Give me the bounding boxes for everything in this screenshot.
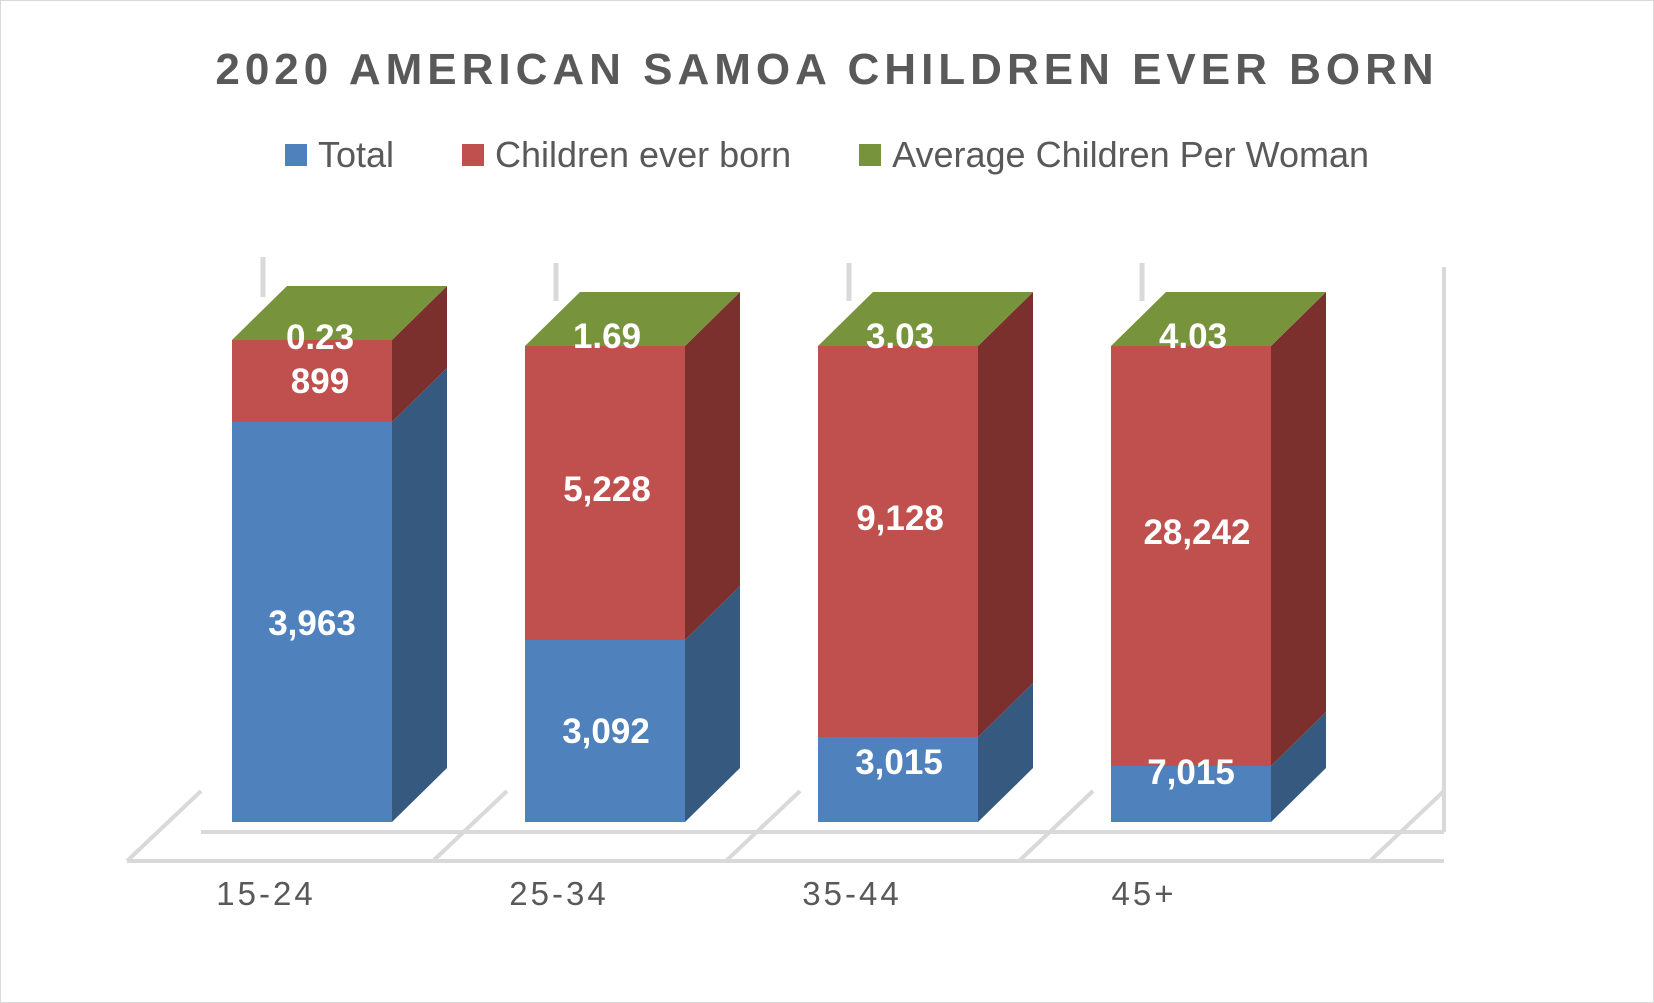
- bar-segment-total-1[interactable]: [232, 422, 392, 822]
- bar-group-25-34[interactable]: [525, 292, 740, 822]
- bar-segment-children-2[interactable]: [525, 346, 685, 640]
- bar-group-35-44[interactable]: [818, 292, 1033, 822]
- bar-side-total-1: [392, 368, 447, 822]
- bar-segment-children-4[interactable]: [1111, 346, 1271, 766]
- category-label-25-34: 25-34: [509, 875, 608, 913]
- bar-side-children-2: [685, 292, 740, 640]
- category-label-35-44: 35-44: [802, 875, 901, 913]
- chart-container: 2020 AMERICAN SAMOA CHILDREN EVER BORN T…: [0, 0, 1654, 1003]
- plot-svg: [1, 1, 1654, 1003]
- bar-side-children-3: [978, 292, 1033, 737]
- bar-group-15-24[interactable]: [232, 286, 447, 822]
- bar-segment-children-3[interactable]: [818, 346, 978, 737]
- bar-segment-total-4[interactable]: [1111, 766, 1271, 822]
- category-label-15-24: 15-24: [216, 875, 315, 913]
- bar-group-45-plus[interactable]: [1111, 292, 1326, 822]
- bar-segment-total-3[interactable]: [818, 737, 978, 822]
- plot-area: 0.23 899 3,963 1.69 5,228 3,092 3.03 9,1…: [1, 1, 1654, 1003]
- bar-side-children-4: [1271, 292, 1326, 766]
- bar-segment-total-2[interactable]: [525, 640, 685, 822]
- category-label-45-plus: 45+: [1112, 875, 1177, 913]
- bar-segment-children-1[interactable]: [232, 340, 392, 422]
